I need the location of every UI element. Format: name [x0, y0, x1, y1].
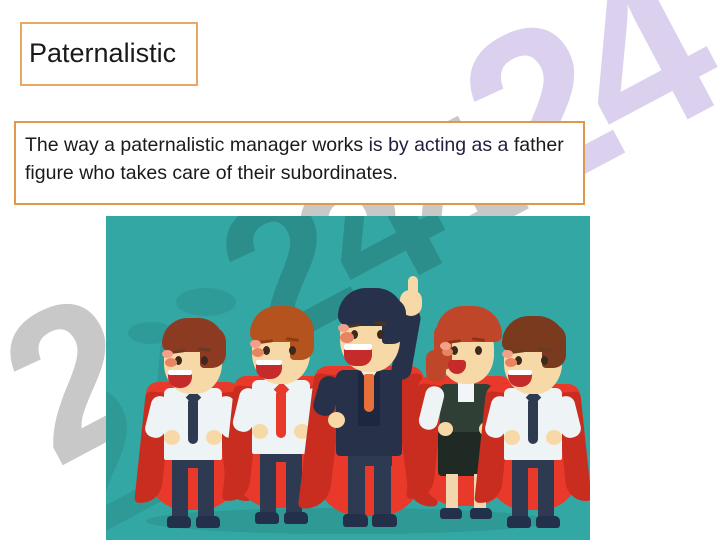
- page-title: Paternalistic: [29, 39, 176, 69]
- slide: 24 24 24 Paternalistic The way a paterna…: [0, 0, 720, 540]
- body-text-box: The way a paternalistic manager works is…: [14, 121, 585, 205]
- body-segment-1: The way a paternalistic manager works: [25, 134, 369, 156]
- illustration-superhero-team: 24 24: [106, 216, 590, 540]
- body-segment-emphasis: is by acting as a: [369, 134, 509, 156]
- title-box: Paternalistic: [20, 22, 198, 86]
- character-businessman-right: [482, 298, 586, 540]
- body-paragraph: The way a paternalistic manager works is…: [25, 132, 573, 187]
